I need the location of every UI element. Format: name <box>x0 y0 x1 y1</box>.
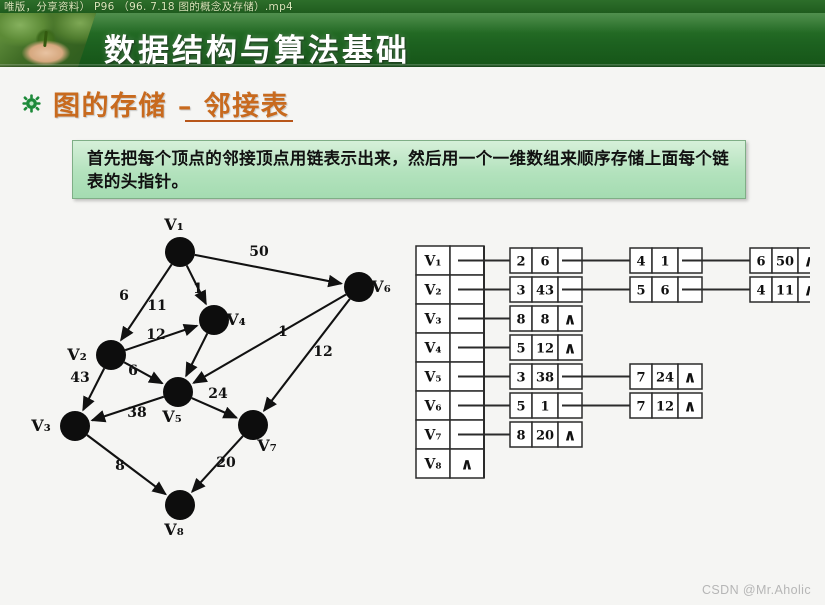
adj-node-index-label: 3 <box>516 371 525 386</box>
adj-node-index-label: 6 <box>756 255 765 270</box>
adj-vertex-label: V₃ <box>424 312 442 328</box>
seedling-photo-thumbnail <box>0 13 96 67</box>
edge-weight-label: 38 <box>127 405 146 421</box>
seedling-stem-icon <box>43 31 48 47</box>
adj-vertex-label: V₁ <box>424 254 442 270</box>
adjacency-list-diagram: V₁2641650∧V₂34356411∧V₃88∧V₄512∧V₅338724… <box>410 240 810 505</box>
edge-weight-label: 1 <box>193 281 203 297</box>
graph-node-label-v5: V₅ <box>161 407 181 426</box>
edge-weight-label: 24 <box>208 386 228 402</box>
edge-weight-label: 6 <box>128 363 138 379</box>
edge-weight-label: 12 <box>313 344 332 360</box>
edge-weight-label: 12 <box>146 327 165 343</box>
adj-node-index-label: 7 <box>636 371 645 386</box>
statement-text: 首先把每个顶点的邻接顶点用链表示出来，然后用一个一维数组来顺序存储上面每个链表的… <box>87 147 735 193</box>
adj-vertex-label: V₇ <box>424 428 442 444</box>
adj-vertex-label: V₆ <box>424 399 442 415</box>
adj-node-index-label: 7 <box>636 400 645 415</box>
edge-weight-label: 43 <box>70 370 89 386</box>
adj-node-index-label: 8 <box>516 429 525 444</box>
edge-weight-label: 6 <box>119 288 129 304</box>
graph-edge-v4-v5 <box>186 333 207 375</box>
adj-null-symbol: ∧ <box>564 339 577 358</box>
graph-node-v3 <box>60 411 90 441</box>
edge-weight-label: 1 <box>278 324 288 340</box>
adj-node-weight-label: 38 <box>536 371 554 386</box>
graph-node-v5 <box>163 377 193 407</box>
green-gear-bullet-icon <box>22 94 41 113</box>
adj-node-weight-label: 12 <box>656 400 674 415</box>
graph-edge-v6-v7 <box>264 299 350 411</box>
adj-node-weight-label: 43 <box>536 284 554 299</box>
section-title-underline <box>185 120 293 122</box>
section-title-text: 图的存储 – 邻接表 <box>53 84 289 123</box>
statement-box: 首先把每个顶点的邻接顶点用链表示出来，然后用一个一维数组来顺序存储上面每个链表的… <box>72 140 746 199</box>
adj-node-index-label: 5 <box>636 284 645 299</box>
graph-node-label-v4: V₄ <box>225 310 245 329</box>
adj-null-symbol: ∧ <box>564 310 577 329</box>
csdn-watermark: CSDN @Mr.Aholic <box>702 583 811 597</box>
page-title: 数据结构与算法基础 <box>104 25 410 67</box>
edge-weight-label: 20 <box>216 455 236 471</box>
adj-node-weight-label: 6 <box>660 284 669 299</box>
adj-node-weight-label: 6 <box>540 255 549 270</box>
adj-node-index-label: 3 <box>516 284 525 299</box>
video-title-strip: 唯版，分享资料） P96 （96. 7.18 图的概念及存储）.mp4 <box>0 0 825 13</box>
adj-node-index-label: 4 <box>636 255 645 270</box>
graph-node-v2 <box>96 340 126 370</box>
graph-node-v4 <box>199 305 229 335</box>
adj-null-symbol: ∧ <box>684 368 697 387</box>
graph-node-label-v1: V₁ <box>163 215 183 234</box>
adj-null-symbol: ∧ <box>804 252 811 271</box>
graph-node-label-v7: V₇ <box>256 436 276 455</box>
edge-weight-label: 50 <box>249 244 269 260</box>
adj-node-weight-label: 12 <box>536 342 554 357</box>
adj-node-index-label: 8 <box>516 313 525 328</box>
adj-node-weight-label: 1 <box>540 400 549 415</box>
adj-node-weight-label: 20 <box>536 429 554 444</box>
adjacency-list-layer: V₁2641650∧V₂34356411∧V₃88∧V₄512∧V₅338724… <box>416 246 810 478</box>
adj-node-weight-label: 1 <box>660 255 669 270</box>
slide-canvas: 唯版，分享资料） P96 （96. 7.18 图的概念及存储）.mp4 数据结构… <box>0 0 825 605</box>
graph-node-label-v3: V₃ <box>30 416 50 435</box>
slide-header-band: 数据结构与算法基础 <box>0 13 825 67</box>
adj-node-index-label: 5 <box>516 400 525 415</box>
adj-node-weight-label: 11 <box>776 284 794 299</box>
graph-node-v1 <box>165 237 195 267</box>
adj-vertex-label: V₅ <box>424 370 442 386</box>
graph-node-label-v8: V₈ <box>163 520 183 539</box>
adj-vertex-label: V₂ <box>424 283 442 299</box>
adj-node-index-label: 2 <box>516 255 525 270</box>
adj-null-symbol: ∧ <box>461 455 474 474</box>
graph-node-label-v6: V₆ <box>370 277 390 296</box>
adj-node-index-label: 5 <box>516 342 525 357</box>
edge-weight-label: 11 <box>147 298 166 314</box>
adj-node-index-label: 4 <box>756 284 765 299</box>
adj-node-weight-label: 50 <box>776 255 794 270</box>
adj-vertex-label: V₄ <box>424 341 442 357</box>
graph-node-label-v2: V₂ <box>66 345 86 364</box>
adj-node-weight-label: 24 <box>656 371 674 386</box>
adj-null-symbol: ∧ <box>804 281 811 300</box>
adj-null-symbol: ∧ <box>684 397 697 416</box>
adj-node-weight-label: 8 <box>540 313 549 328</box>
video-title-text: 唯版，分享资料） P96 （96. 7.18 图的概念及存储）.mp4 <box>4 0 293 13</box>
graph-edge-v3-v8 <box>87 435 166 494</box>
edge-weight-label: 8 <box>115 458 125 474</box>
adj-null-symbol: ∧ <box>564 426 577 445</box>
graph-node-v6 <box>344 272 374 302</box>
graph-diagram: 615011643123824112820 V₁V₂V₃V₄V₅V₆V₇V₈ <box>0 210 410 550</box>
graph-node-v8 <box>165 490 195 520</box>
adj-vertex-label: V₈ <box>424 457 442 473</box>
